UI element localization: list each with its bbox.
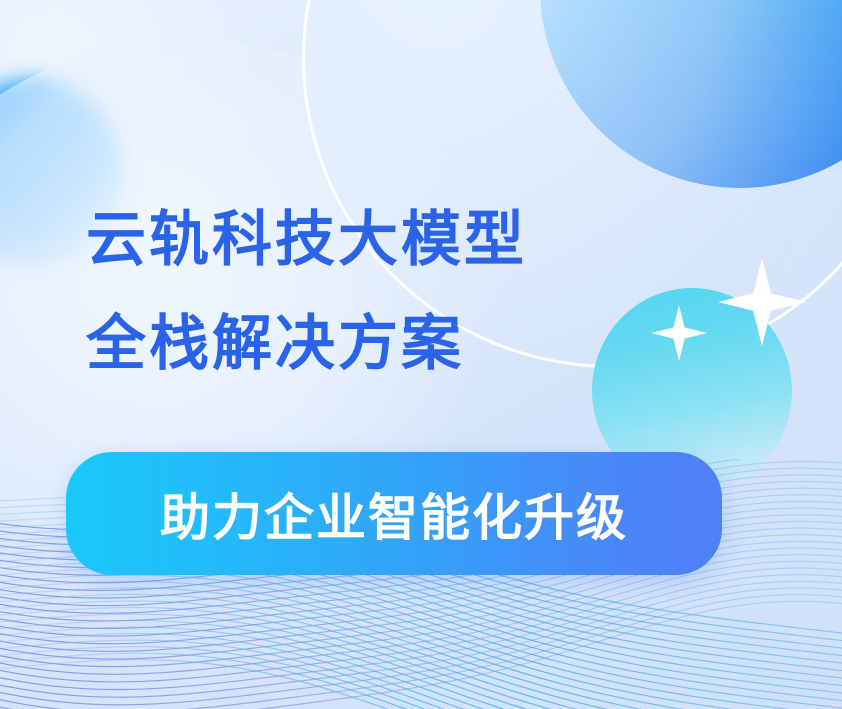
cta-button[interactable]: 助力企业智能化升级 — [66, 452, 722, 575]
headline-line-1: 云轨科技大模型 — [86, 188, 527, 292]
headline-line-2: 全栈解决方案 — [86, 292, 464, 396]
banner-content: 云轨科技大模型 全栈解决方案 助力企业智能化升级 — [0, 0, 842, 709]
promotional-banner: 云轨科技大模型 全栈解决方案 助力企业智能化升级 — [0, 0, 842, 709]
